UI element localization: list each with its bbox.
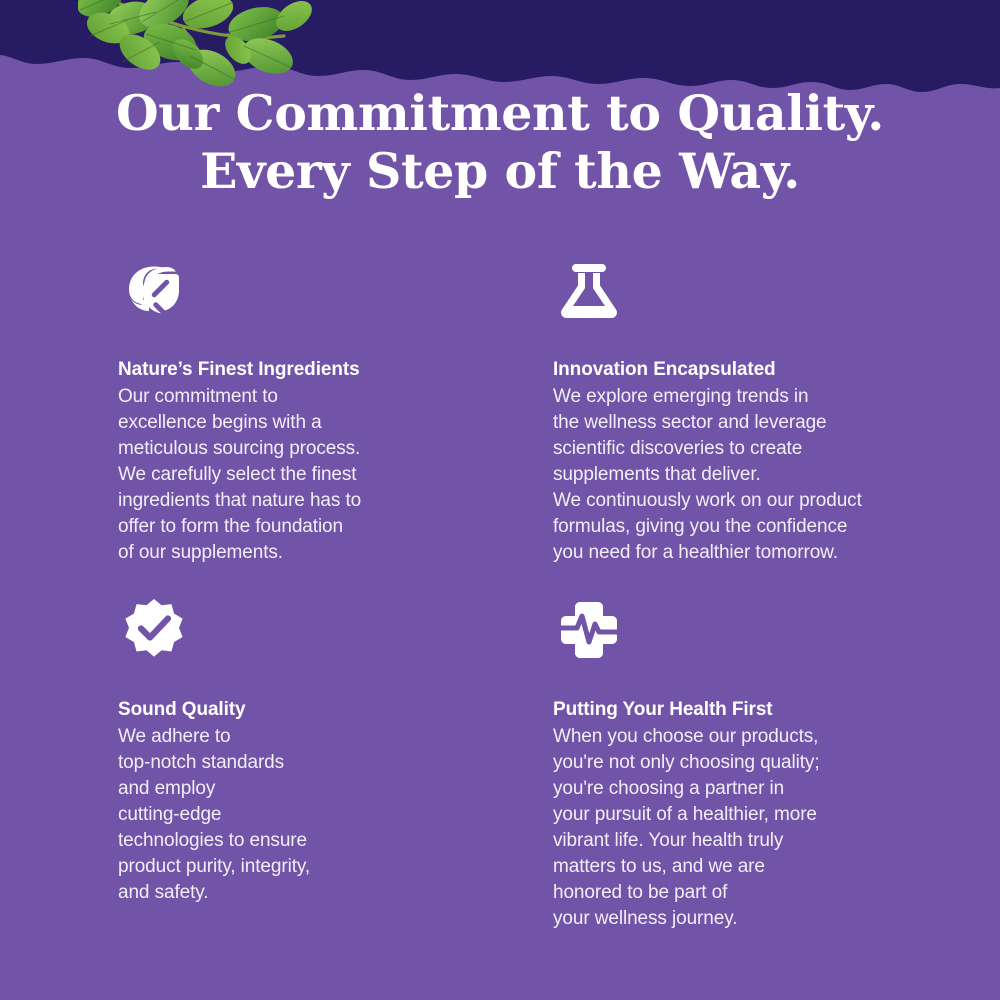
feature-card-putting-your-health-first: Putting Your Health First When you choos…	[538, 588, 958, 932]
feature-body: We explore emerging trends in the wellne…	[553, 384, 958, 566]
feature-card-innovation-encapsulated: Innovation Encapsulated We explore emerg…	[538, 248, 958, 566]
leaves-icon	[118, 248, 190, 326]
feature-title: Innovation Encapsulated	[553, 356, 958, 383]
flask-icon	[553, 248, 625, 326]
feature-card-sound-quality: Sound Quality We adhere to top-notch sta…	[118, 588, 538, 932]
feature-title: Putting Your Health First	[553, 696, 958, 723]
feature-card-natures-finest-ingredients: Nature’s Finest Ingredients Our commitme…	[118, 248, 538, 566]
health-cross-pulse-icon	[553, 588, 625, 666]
page-title-line-2: Every Step of the Way.	[0, 142, 1000, 200]
feature-grid: Nature’s Finest Ingredients Our commitme…	[0, 248, 1000, 932]
page-title-line-1: Our Commitment to Quality.	[0, 84, 1000, 142]
feature-body: When you choose our products, you're not…	[553, 724, 958, 932]
feature-body: Our commitment to excellence begins with…	[118, 384, 538, 566]
page-title: Our Commitment to Quality. Every Step of…	[0, 84, 1000, 200]
feature-body: We adhere to top-notch standards and emp…	[118, 724, 538, 906]
feature-title: Sound Quality	[118, 696, 538, 723]
badge-check-icon	[118, 588, 190, 666]
feature-title: Nature’s Finest Ingredients	[118, 356, 538, 383]
